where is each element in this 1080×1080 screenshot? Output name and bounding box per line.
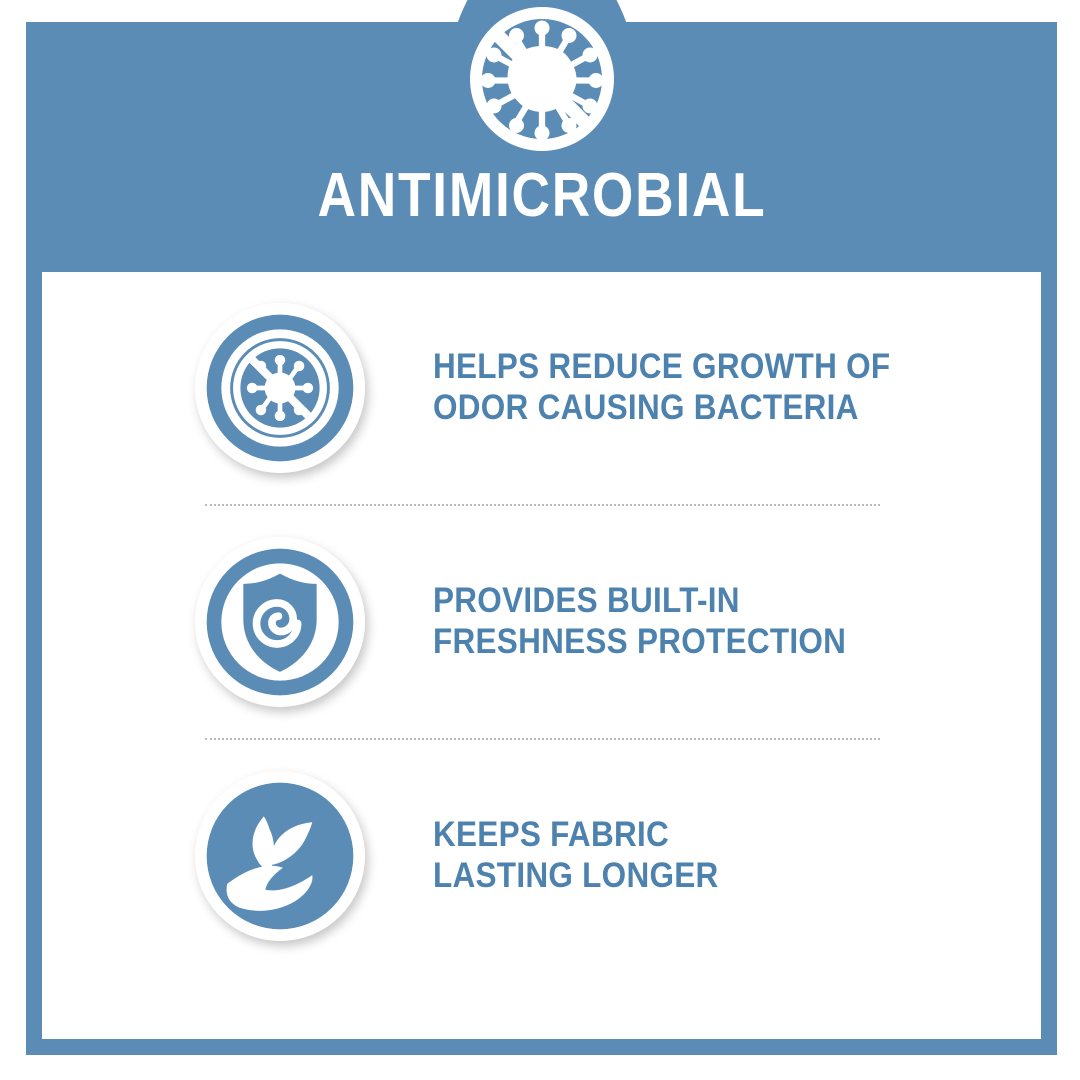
feature-text: PROVIDES BUILT-IN FRESHNESS PROTECTION [433,581,846,663]
shield-freshness-icon [192,534,368,710]
infographic-canvas: ANTIMICROBIAL [0,0,1080,1080]
page-title: ANTIMICROBIAL [317,165,766,227]
no-germs-icon [467,4,617,159]
feature-list: HELPS REDUCE GROWTH OF ODOR CAUSING BACT… [42,272,1041,1039]
leaf-sprout-icon [192,768,368,944]
feature-text-line: ODOR CAUSING BACTERIA [433,388,890,429]
feature-row: HELPS REDUCE GROWTH OF ODOR CAUSING BACT… [42,272,1041,504]
feature-text-line: PROVIDES BUILT-IN [433,581,846,622]
header: ANTIMICROBIAL [26,0,1057,272]
feature-row: PROVIDES BUILT-IN FRESHNESS PROTECTION [42,506,1041,738]
feature-text-line: HELPS REDUCE GROWTH OF [433,347,890,388]
feature-row: KEEPS FABRIC LASTING LONGER [42,740,1041,972]
feature-text-line: LASTING LONGER [433,856,719,897]
feature-text-line: FRESHNESS PROTECTION [433,622,846,663]
feature-text: KEEPS FABRIC LASTING LONGER [433,815,719,897]
feature-text: HELPS REDUCE GROWTH OF ODOR CAUSING BACT… [433,347,890,429]
no-germs-circle-icon [192,300,368,476]
feature-text-line: KEEPS FABRIC [433,815,719,856]
